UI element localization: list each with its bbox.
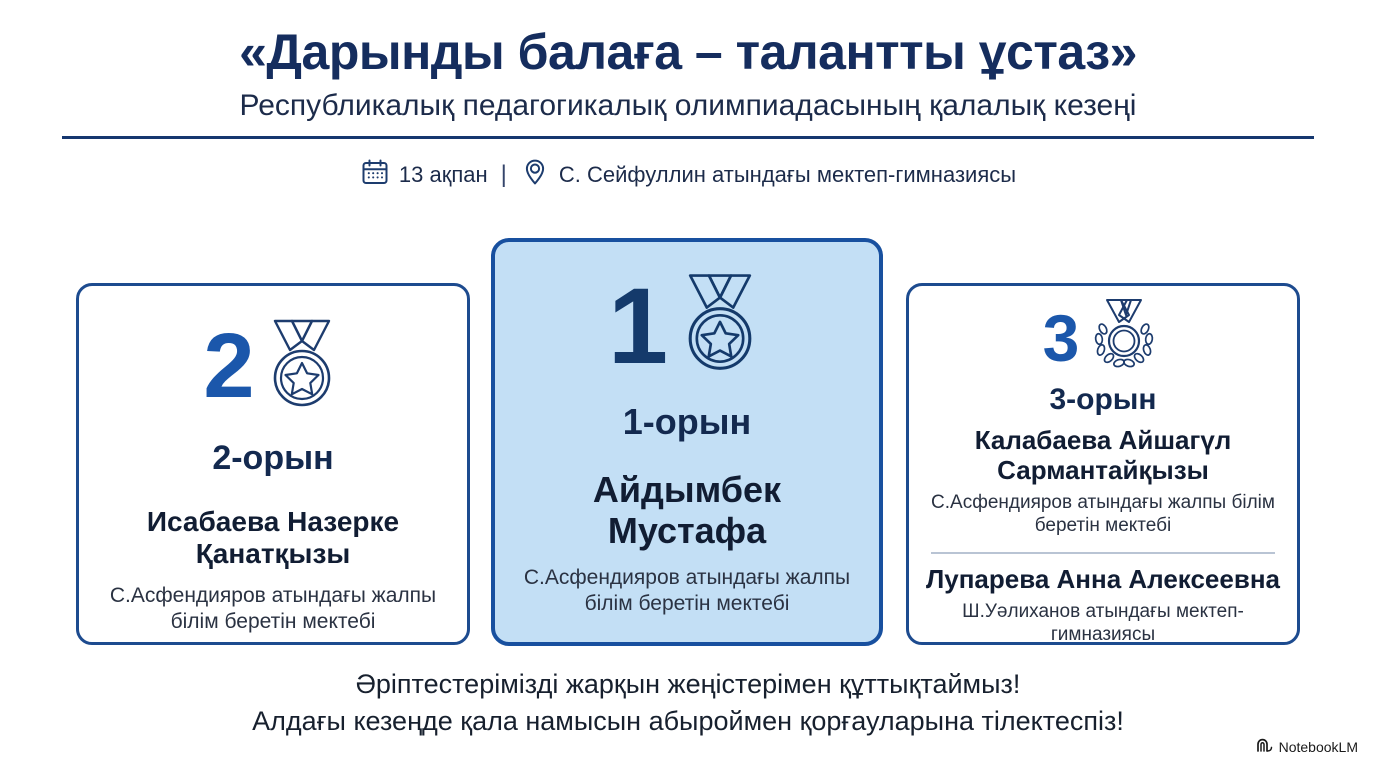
winner-school: С.Асфендияров атындағы жалпы білім берет… <box>511 565 863 616</box>
winner-entry: Айдымбек Мустафа С.Асфендияров атындағы … <box>495 469 879 616</box>
rank-number: 2 <box>203 324 254 409</box>
winner-name: Лупарева Анна Алексеевна <box>925 564 1281 594</box>
winner-name: Калабаева Айшагүл Сармантайқызы <box>925 425 1281 485</box>
rank-badge-2nd: 2 <box>79 316 467 417</box>
page-title: «Дарынды балаға – талантты ұстаз» <box>0 26 1376 79</box>
rank-number: 3 <box>1043 308 1080 369</box>
footer-line-2: Алдағы кезеңде қала намысын абыроймен қо… <box>0 703 1376 740</box>
notebooklm-watermark: NotebookLM <box>1256 738 1358 756</box>
winners-row: 2 2-орын Исабаева Назерке Қанатқызы С.Ас… <box>0 238 1376 650</box>
winner-name: Исабаева Назерке Қанатқызы <box>95 506 451 571</box>
winner-entry: Калабаева Айшагүл Сармантайқызы С.Асфенд… <box>909 425 1297 538</box>
watermark-label: NotebookLM <box>1279 739 1358 755</box>
location-pin-icon <box>520 157 550 193</box>
event-meta: 13 ақпан | С. Сейфуллин атындағы мектеп-… <box>0 157 1376 193</box>
place-label: 1-орын <box>495 401 879 443</box>
winner-card-1st: 1 1-орын Айдымбек Мустафа С.Асфендияров … <box>491 238 883 646</box>
medal-laurel-icon <box>1085 296 1163 381</box>
entry-divider <box>931 552 1275 554</box>
winner-card-3rd: 3 <box>906 283 1300 645</box>
winner-entry: Исабаева Назерке Қанатқызы С.Асфендияров… <box>79 506 467 634</box>
winner-school: С.Асфендияров атындағы жалпы білім берет… <box>925 491 1281 537</box>
poster-footer: Әріптестерімізді жарқын жеңістерімен құт… <box>0 666 1376 739</box>
calendar-icon <box>360 157 390 193</box>
winner-school: Ш.Уәлиханов атындағы мектеп-гимназиясы <box>925 600 1281 646</box>
footer-line-1: Әріптестерімізді жарқын жеңістерімен құт… <box>0 666 1376 703</box>
notebooklm-icon <box>1256 738 1273 756</box>
event-location: С. Сейфуллин атындағы мектеп-гимназиясы <box>559 162 1016 188</box>
poster-header: «Дарынды балаға – талантты ұстаз» Респуб… <box>0 0 1376 139</box>
winner-name: Айдымбек Мустафа <box>511 469 863 551</box>
place-label: 3-орын <box>909 383 1297 417</box>
poster-root: { "header": { "title": "«Дарынды балаға … <box>0 0 1376 768</box>
header-divider <box>62 136 1314 139</box>
rank-number: 1 <box>608 276 668 375</box>
rank-badge-3rd: 3 <box>909 296 1297 381</box>
meta-separator: | <box>501 161 507 189</box>
medal-star-icon <box>261 316 343 417</box>
page-subtitle: Республикалық педагогикалық олимпиадасын… <box>0 89 1376 122</box>
rank-badge-1st: 1 <box>495 270 879 381</box>
winner-card-2nd: 2 2-орын Исабаева Назерке Қанатқызы С.Ас… <box>76 283 470 645</box>
medal-star-icon <box>674 270 766 381</box>
winner-school: С.Асфендияров атындағы жалпы білім берет… <box>95 583 451 634</box>
place-label: 2-орын <box>79 439 467 478</box>
winner-entry: Лупарева Анна Алексеевна Ш.Уәлиханов аты… <box>909 564 1297 647</box>
event-date: 13 ақпан <box>399 162 488 188</box>
